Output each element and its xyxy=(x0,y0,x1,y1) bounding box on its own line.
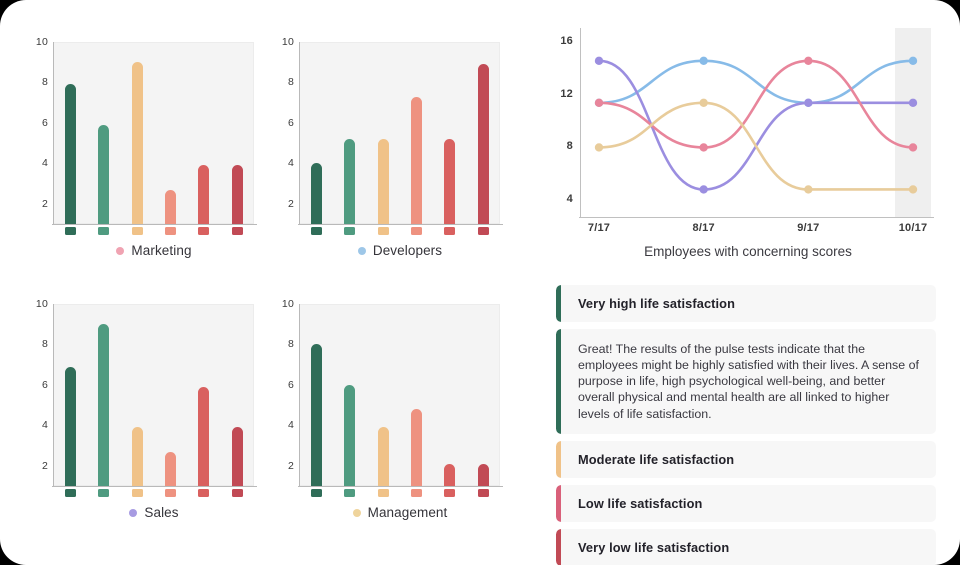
x-axis-line xyxy=(298,486,503,487)
line-series-developers[interactable] xyxy=(599,61,913,103)
legend-label: Developers xyxy=(373,243,442,258)
legend-dot-icon xyxy=(129,509,137,517)
line-chart-card: 481216 7/178/179/1710/17 Employees with … xyxy=(548,22,948,272)
line-chart-x-ticks: 7/178/179/1710/17 xyxy=(581,222,931,238)
legend-label: Marketing xyxy=(131,243,191,258)
data-point[interactable] xyxy=(909,143,917,151)
y-tick-label: 4 xyxy=(42,157,48,169)
bar[interactable] xyxy=(344,385,355,486)
line-chart-x-tick-label: 7/17 xyxy=(588,222,610,234)
line-chart-x-tick-label: 9/17 xyxy=(797,222,819,234)
bar[interactable] xyxy=(98,125,109,224)
right-panel: 481216 7/178/179/1710/17 Employees with … xyxy=(530,0,960,565)
data-point[interactable] xyxy=(909,99,917,107)
x-axis-line xyxy=(52,486,257,487)
line-series-svg xyxy=(581,28,931,217)
line-chart-y-tick-label: 12 xyxy=(560,88,573,100)
bar[interactable] xyxy=(311,344,322,486)
bar[interactable] xyxy=(444,139,455,224)
data-point[interactable] xyxy=(804,57,812,65)
category-tick xyxy=(311,227,322,235)
line-series-sales[interactable] xyxy=(599,61,913,190)
insight-color-bar xyxy=(556,441,561,478)
bar[interactable] xyxy=(198,165,209,224)
y-tick-label: 4 xyxy=(288,419,294,431)
category-tick-marks xyxy=(300,489,500,501)
y-tick-label: 6 xyxy=(42,117,48,129)
category-tick xyxy=(232,489,243,497)
bar-chart-body: 246810Sales xyxy=(26,300,261,500)
bars-group xyxy=(54,42,254,224)
category-tick xyxy=(65,489,76,497)
category-tick xyxy=(378,489,389,497)
line-chart-y-axis: 481216 xyxy=(548,22,578,217)
bar[interactable] xyxy=(378,139,389,224)
bar[interactable] xyxy=(378,427,389,486)
category-tick xyxy=(411,227,422,235)
data-point[interactable] xyxy=(909,185,917,193)
y-tick-label: 4 xyxy=(42,419,48,431)
bar[interactable] xyxy=(444,464,455,486)
category-tick xyxy=(232,227,243,235)
category-tick xyxy=(165,489,176,497)
insight-color-bar xyxy=(556,529,561,565)
data-point[interactable] xyxy=(699,143,707,151)
line-chart-x-tick-label: 8/17 xyxy=(693,222,715,234)
y-tick-label: 8 xyxy=(288,76,294,88)
chart-legend-marketing[interactable]: Marketing xyxy=(54,243,254,258)
y-tick-label: 10 xyxy=(36,298,48,310)
insights-list: Very high life satisfactionGreat! The re… xyxy=(556,285,936,565)
bars-group xyxy=(54,304,254,486)
category-tick-marks xyxy=(300,227,500,239)
category-tick xyxy=(444,489,455,497)
chart-legend-developers[interactable]: Developers xyxy=(300,243,500,258)
category-tick xyxy=(411,489,422,497)
bars-group xyxy=(300,42,500,224)
bar-chart-sales: 246810Sales xyxy=(26,300,261,500)
category-tick xyxy=(198,489,209,497)
bar[interactable] xyxy=(478,464,489,486)
bar[interactable] xyxy=(165,452,176,486)
category-tick xyxy=(98,227,109,235)
category-tick xyxy=(344,489,355,497)
y-tick-label: 2 xyxy=(288,198,294,210)
bar-charts-panel: 246810Marketing246810Developers246810Sal… xyxy=(0,0,530,565)
category-tick xyxy=(344,227,355,235)
y-axis: 246810 xyxy=(272,300,298,485)
bar[interactable] xyxy=(198,387,209,486)
bar[interactable] xyxy=(132,427,143,486)
data-point[interactable] xyxy=(699,57,707,65)
line-chart-y-tick-label: 16 xyxy=(560,35,573,47)
bar[interactable] xyxy=(232,165,243,224)
y-tick-label: 8 xyxy=(42,76,48,88)
data-point[interactable] xyxy=(595,143,603,151)
line-chart-x-axis-line xyxy=(579,217,934,218)
bar[interactable] xyxy=(411,97,422,224)
bar-chart-marketing: 246810Marketing xyxy=(26,38,261,238)
legend-dot-icon xyxy=(353,509,361,517)
category-tick xyxy=(478,227,489,235)
x-axis-line xyxy=(52,224,257,225)
bar[interactable] xyxy=(65,84,76,224)
y-tick-label: 10 xyxy=(282,298,294,310)
data-point[interactable] xyxy=(595,99,603,107)
category-tick xyxy=(98,489,109,497)
insight-title: Low life satisfaction xyxy=(578,496,922,511)
bar[interactable] xyxy=(165,190,176,224)
insight-color-bar xyxy=(556,485,561,522)
bar[interactable] xyxy=(311,163,322,224)
bar[interactable] xyxy=(232,427,243,486)
data-point[interactable] xyxy=(909,57,917,65)
y-tick-label: 6 xyxy=(288,117,294,129)
data-point[interactable] xyxy=(804,99,812,107)
bar-chart-developers: 246810Developers xyxy=(272,38,507,238)
legend-label: Management xyxy=(368,505,448,520)
category-tick xyxy=(165,227,176,235)
line-chart-plot[interactable] xyxy=(581,28,931,217)
insight-title: Very high life satisfaction xyxy=(578,296,922,311)
category-tick xyxy=(132,489,143,497)
bar-chart-body: 246810Management xyxy=(272,300,507,500)
chart-legend-management[interactable]: Management xyxy=(300,505,500,520)
bar[interactable] xyxy=(411,409,422,486)
line-chart-y-tick-label: 4 xyxy=(567,193,573,205)
bars-group xyxy=(300,304,500,486)
category-tick xyxy=(311,489,322,497)
y-axis: 246810 xyxy=(26,300,52,485)
y-tick-label: 2 xyxy=(42,460,48,472)
insight-description: Great! The results of the pulse tests in… xyxy=(578,341,922,422)
line-chart-caption: Employees with concerning scores xyxy=(548,244,948,259)
category-tick-marks xyxy=(54,227,254,239)
y-tick-label: 2 xyxy=(288,460,294,472)
legend-dot-icon xyxy=(358,247,366,255)
insight-color-bar xyxy=(556,329,561,434)
y-tick-label: 6 xyxy=(288,379,294,391)
bar[interactable] xyxy=(65,367,76,486)
insight-title: Very low life satisfaction xyxy=(578,540,922,555)
bar[interactable] xyxy=(478,64,489,224)
category-tick xyxy=(132,227,143,235)
line-chart-x-tick-label: 10/17 xyxy=(899,222,928,234)
y-tick-label: 8 xyxy=(288,338,294,350)
data-point[interactable] xyxy=(595,57,603,65)
insight-row[interactable]: Moderate life satisfaction xyxy=(556,441,936,478)
line-chart-y-axis-line xyxy=(580,28,581,217)
bar[interactable] xyxy=(98,324,109,486)
y-tick-label: 4 xyxy=(288,157,294,169)
insight-row[interactable]: Low life satisfaction xyxy=(556,485,936,522)
insight-description-row: Great! The results of the pulse tests in… xyxy=(556,329,936,434)
bar-chart-body: 246810Developers xyxy=(272,38,507,238)
y-tick-label: 2 xyxy=(42,198,48,210)
data-point[interactable] xyxy=(699,99,707,107)
insight-row[interactable]: Very low life satisfaction xyxy=(556,529,936,565)
data-point[interactable] xyxy=(804,185,812,193)
y-axis: 246810 xyxy=(272,38,298,223)
chart-legend-sales[interactable]: Sales xyxy=(54,505,254,520)
bar[interactable] xyxy=(132,62,143,224)
y-tick-label: 8 xyxy=(42,338,48,350)
category-tick xyxy=(65,227,76,235)
legend-dot-icon xyxy=(116,247,124,255)
category-tick xyxy=(198,227,209,235)
bar-chart-body: 246810Marketing xyxy=(26,38,261,238)
category-tick-marks xyxy=(54,489,254,501)
category-tick xyxy=(478,489,489,497)
data-point[interactable] xyxy=(699,185,707,193)
bar[interactable] xyxy=(344,139,355,224)
insight-title: Moderate life satisfaction xyxy=(578,452,922,467)
category-tick xyxy=(444,227,455,235)
line-series-marketing[interactable] xyxy=(599,61,913,148)
y-tick-label: 10 xyxy=(282,36,294,48)
insight-color-bar xyxy=(556,285,561,322)
category-tick xyxy=(378,227,389,235)
y-tick-label: 6 xyxy=(42,379,48,391)
insight-row[interactable]: Very high life satisfaction xyxy=(556,285,936,322)
line-chart-body: 481216 7/178/179/1710/17 xyxy=(548,22,948,232)
y-axis: 246810 xyxy=(26,38,52,223)
y-tick-label: 10 xyxy=(36,36,48,48)
bar-chart-management: 246810Management xyxy=(272,300,507,500)
line-chart-y-tick-label: 8 xyxy=(567,140,573,152)
x-axis-line xyxy=(298,224,503,225)
legend-label: Sales xyxy=(144,505,178,520)
dashboard-page: 246810Marketing246810Developers246810Sal… xyxy=(0,0,960,565)
